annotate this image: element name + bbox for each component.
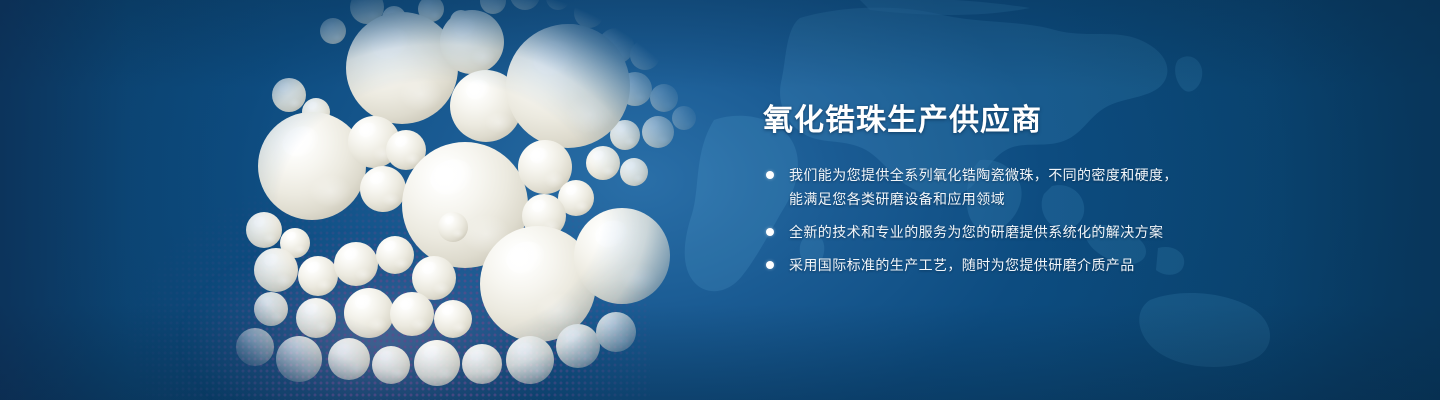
feature-list-item: 采用国际标准的生产工艺，随时为您提供研磨介质产品 [763, 253, 1233, 277]
feature-list-item: 我们能为您提供全系列氧化锆陶瓷微珠，不同的密度和硬度， 能满足您各类研磨设备和应… [763, 163, 1233, 211]
banner-headline: 氧化锆珠生产供应商 [763, 104, 1233, 137]
hero-banner: 氧化锆珠生产供应商 我们能为您提供全系列氧化锆陶瓷微珠，不同的密度和硬度， 能满… [0, 0, 1440, 400]
feature-text-line: 能满足您各类研磨设备和应用领域 [789, 187, 1233, 211]
bullet-dot-icon [766, 228, 774, 236]
bullet-dot-icon [766, 261, 774, 269]
feature-text-line: 我们能为您提供全系列氧化锆陶瓷微珠，不同的密度和硬度， [789, 163, 1233, 187]
feature-text-line: 全新的技术和专业的服务为您的研磨提供系统化的解决方案 [789, 220, 1233, 244]
feature-list-item: 全新的技术和专业的服务为您的研磨提供系统化的解决方案 [763, 220, 1233, 244]
feature-text-line: 采用国际标准的生产工艺，随时为您提供研磨介质产品 [789, 253, 1233, 277]
feature-list: 我们能为您提供全系列氧化锆陶瓷微珠，不同的密度和硬度， 能满足您各类研磨设备和应… [763, 163, 1233, 277]
bullet-dot-icon [766, 171, 774, 179]
zirconia-beads-photo [150, 0, 750, 400]
banner-content: 氧化锆珠生产供应商 我们能为您提供全系列氧化锆陶瓷微珠，不同的密度和硬度， 能满… [763, 104, 1233, 277]
